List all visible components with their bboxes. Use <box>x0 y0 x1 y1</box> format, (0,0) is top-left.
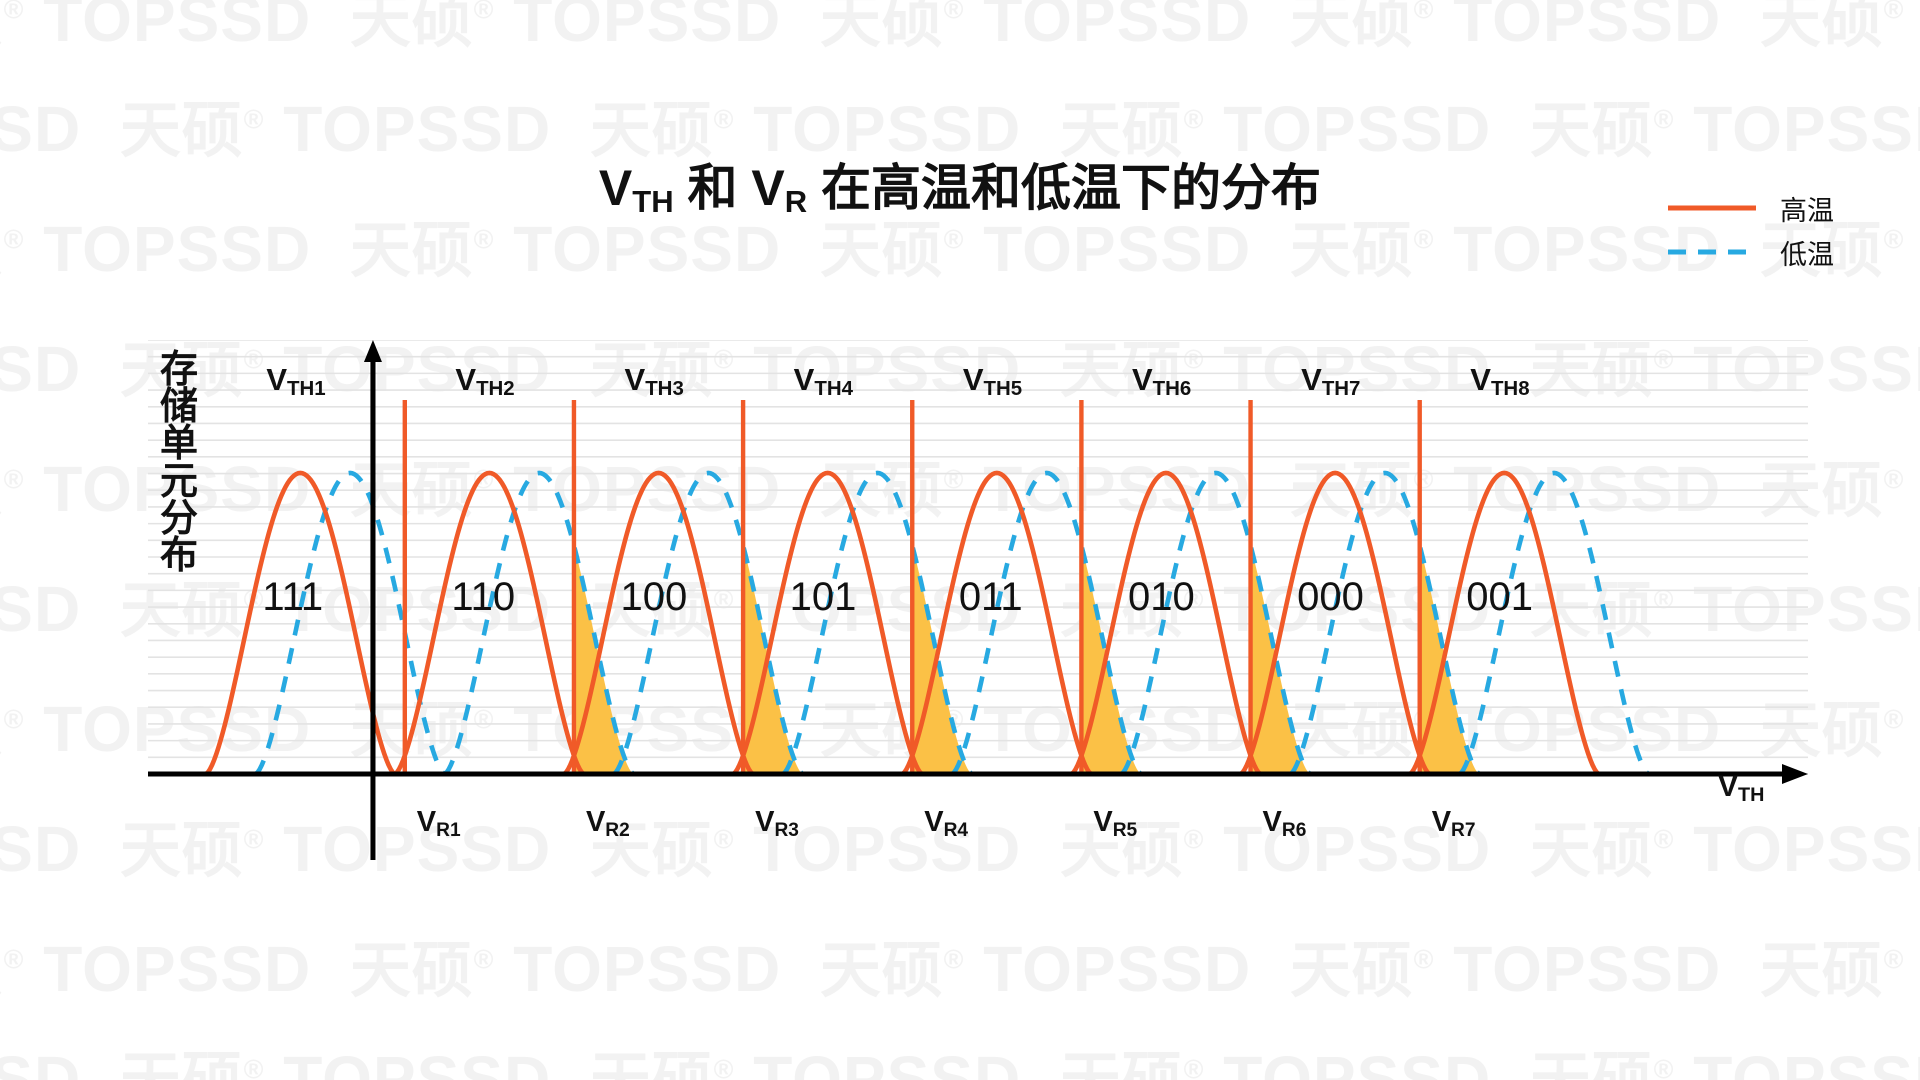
watermark-text: 天硕® TOPSSD <box>1760 920 1920 1009</box>
watermark-text: 天硕® TOPSSD <box>0 800 81 889</box>
state-label-subscript: TH2 <box>476 377 515 400</box>
read-level-label-subscript: R4 <box>944 820 968 841</box>
read-level-label-v: V <box>1263 806 1282 838</box>
read-level-label-subscript: R5 <box>1113 820 1137 841</box>
watermark-text: 天硕® TOPSSD <box>820 0 1251 59</box>
watermark-text: 天硕® TOPSSD <box>0 320 81 409</box>
read-level-label-VR7: VR7 <box>1432 806 1476 839</box>
legend: 高温 低温 <box>1666 186 1834 274</box>
state-label-VTH3: VTH3 <box>625 362 684 398</box>
read-level-label-subscript: R3 <box>774 820 798 841</box>
state-label-subscript: TH8 <box>1491 377 1530 400</box>
watermark-text: 天硕® TOPSSD <box>0 0 311 59</box>
state-label-v: V <box>794 362 815 397</box>
read-level-label-VR5: VR5 <box>1093 806 1137 839</box>
state-code-111: 111 <box>262 575 323 620</box>
state-code-011: 011 <box>959 575 1023 620</box>
state-label-VTH1: VTH1 <box>266 362 325 398</box>
read-level-label-subscript: R7 <box>1451 820 1475 841</box>
watermark-text: 天硕® TOPSSD <box>1530 1030 1920 1080</box>
legend-swatch-solid-icon <box>1666 201 1758 215</box>
state-label-subscript: TH1 <box>287 377 326 400</box>
state-code-001: 001 <box>1466 575 1533 620</box>
read-level-label-VR2: VR2 <box>586 806 630 839</box>
state-label-v: V <box>1301 362 1322 397</box>
state-label-VTH8: VTH8 <box>1470 362 1529 398</box>
state-label-VTH4: VTH4 <box>794 362 853 398</box>
read-level-label-VR3: VR3 <box>755 806 799 839</box>
page-title: VTH 和 VR 在高温和低温下的分布 <box>0 148 1920 220</box>
title-conjunction: 和 <box>674 160 752 216</box>
watermark-text: 天硕® TOPSSD <box>1760 0 1920 59</box>
watermark-text: 天硕® TOPSSD <box>1290 920 1721 1009</box>
y-axis-char-4: 分 <box>152 501 206 538</box>
state-code-110: 110 <box>451 575 515 620</box>
title-v2: V <box>751 160 784 216</box>
state-label-subscript: TH5 <box>984 377 1023 400</box>
title-v2-subscript: R <box>785 184 807 219</box>
legend-label-low-temperature: 低温 <box>1780 233 1834 272</box>
read-level-label-v: V <box>417 806 436 838</box>
watermark-text: 天硕® TOPSSD <box>0 560 81 649</box>
state-label-VTH5: VTH5 <box>963 362 1022 398</box>
read-level-label-subscript: R1 <box>436 820 460 841</box>
y-axis-char-0: 存 <box>152 352 206 389</box>
watermark-text: 天硕® TOPSSD <box>0 920 311 1009</box>
gridlines <box>148 340 1808 774</box>
read-level-label-subscript: R6 <box>1282 820 1306 841</box>
watermark-text: 天硕® TOPSSD <box>0 1030 81 1080</box>
x-axis-label-v: V <box>1718 770 1738 803</box>
read-level-label-v: V <box>924 806 943 838</box>
x-axis-label: VTH <box>1718 770 1764 804</box>
read-level-label-v: V <box>586 806 605 838</box>
title-v1: V <box>599 160 632 216</box>
state-label-v: V <box>455 362 476 397</box>
state-label-VTH6: VTH6 <box>1132 362 1191 398</box>
state-label-VTH7: VTH7 <box>1301 362 1360 398</box>
legend-item-low-temperature: 低温 <box>1666 230 1834 274</box>
state-label-v: V <box>1470 362 1491 397</box>
watermark-text: 天硕® TOPSSD <box>120 1030 551 1080</box>
watermark-text: 天硕® TOPSSD <box>1290 0 1721 59</box>
state-code-100: 100 <box>621 575 688 620</box>
read-level-label-VR4: VR4 <box>924 806 968 839</box>
state-label-v: V <box>266 362 287 397</box>
state-label-VTH2: VTH2 <box>455 362 514 398</box>
y-axis-char-1: 储 <box>152 389 206 426</box>
legend-label-high-temperature: 高温 <box>1780 189 1834 228</box>
read-level-label-VR6: VR6 <box>1263 806 1307 839</box>
read-level-label-v: V <box>1093 806 1112 838</box>
legend-item-high-temperature: 高温 <box>1666 186 1834 230</box>
x-axis-arrow-icon <box>1782 764 1808 784</box>
read-level-label-v: V <box>1432 806 1451 838</box>
state-label-subscript: TH3 <box>645 377 684 400</box>
state-code-000: 000 <box>1297 575 1364 620</box>
state-label-subscript: TH6 <box>1153 377 1192 400</box>
y-axis-label: 存 储 单 元 分 布 <box>152 352 206 575</box>
title-v1-subscript: TH <box>632 184 673 219</box>
watermark-text: 天硕® TOPSSD <box>820 920 1251 1009</box>
read-level-label-v: V <box>755 806 774 838</box>
state-code-101: 101 <box>790 575 857 620</box>
watermark-text: 天硕® TOPSSD <box>350 920 781 1009</box>
y-axis-char-5: 布 <box>152 538 206 575</box>
watermark-text: 天硕® TOPSSD <box>1060 1030 1491 1080</box>
y-axis-char-3: 元 <box>152 464 206 501</box>
state-label-v: V <box>625 362 646 397</box>
title-suffix: 在高温和低温下的分布 <box>807 160 1321 216</box>
watermark-text: 天硕® TOPSSD <box>590 1030 1021 1080</box>
legend-swatch-dashed-icon <box>1666 245 1758 259</box>
read-level-label-subscript: R2 <box>605 820 629 841</box>
state-label-subscript: TH7 <box>1322 377 1361 400</box>
y-axis-char-2: 单 <box>152 426 206 463</box>
x-axis-label-subscript: TH <box>1738 784 1764 806</box>
watermark-text: 天硕® TOPSSD <box>350 0 781 59</box>
state-label-v: V <box>963 362 984 397</box>
state-label-subscript: TH4 <box>814 377 853 400</box>
state-code-010: 010 <box>1128 575 1195 620</box>
state-label-v: V <box>1132 362 1153 397</box>
read-level-label-VR1: VR1 <box>417 806 461 839</box>
